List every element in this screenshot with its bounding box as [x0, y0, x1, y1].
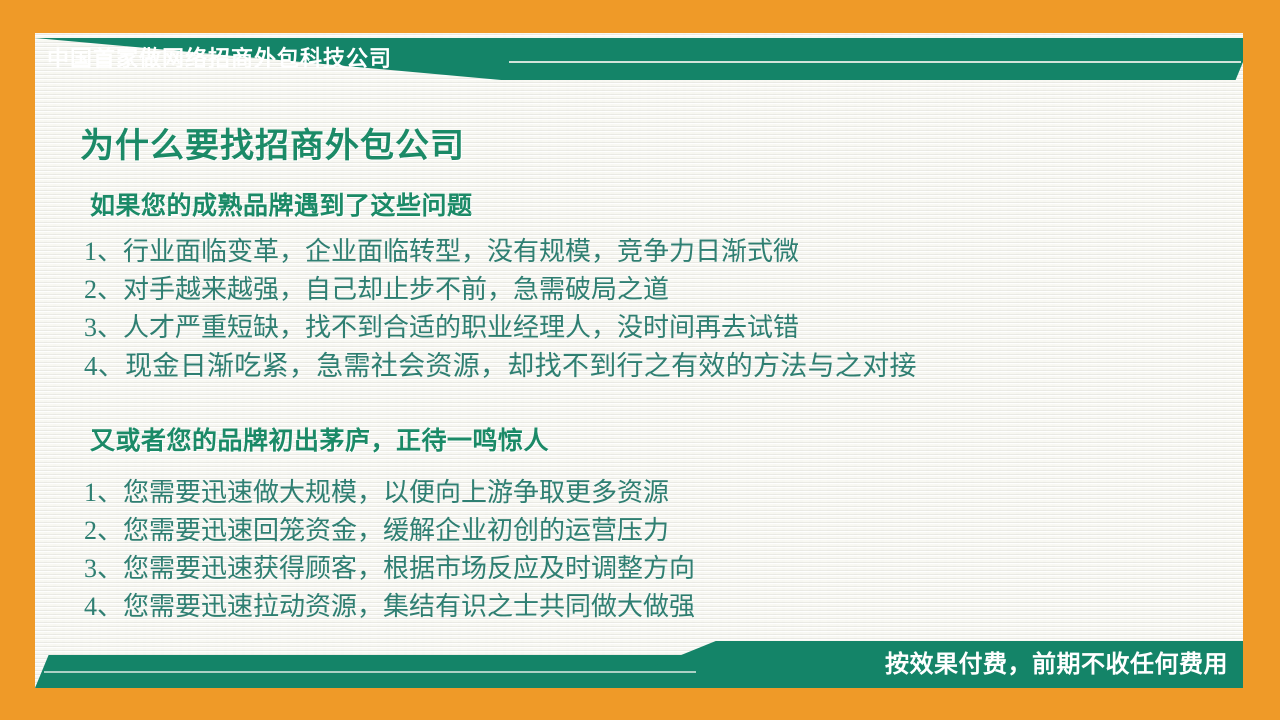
section-list-2: 1、您需要迅速做大规模，以便向上游争取更多资源 2、您需要迅速回笼资金，缓解企业… [84, 474, 695, 626]
list-item: 2、您需要迅速回笼资金，缓解企业初创的运营压力 [84, 512, 695, 550]
section-list-1: 1、行业面临变革，企业面临转型，没有规模，竞争力日渐式微 2、对手越来越强，自己… [84, 233, 917, 385]
list-item: 4、现金日渐吃紧，急需社会资源，却找不到行之有效的方法与之对接 [84, 347, 917, 385]
footer-hairline-divider [44, 671, 696, 673]
header-tagline: 中国首家做网络招商外包科技公司 [47, 40, 392, 78]
section-heading-2: 又或者您的品牌初出茅庐，正待一鸣惊人 [90, 421, 549, 457]
list-item: 1、您需要迅速做大规模，以便向上游争取更多资源 [84, 474, 695, 512]
footer-tagline: 按效果付费，前期不收任何费用 [885, 648, 1228, 682]
section-heading-1: 如果您的成熟品牌遇到了这些问题 [90, 186, 473, 222]
list-item: 3、人才严重短缺，找不到合适的职业经理人，没时间再去试错 [84, 309, 917, 347]
header-green-strip-upper [475, 38, 1243, 62]
page-title: 为什么要找招商外包公司 [80, 118, 465, 167]
list-item: 4、您需要迅速拉动资源，集结有识之士共同做大做强 [84, 588, 695, 626]
slide-canvas: 中国首家做网络招商外包科技公司 为什么要找招商外包公司 如果您的成熟品牌遇到了这… [0, 0, 1280, 720]
list-item: 2、对手越来越强，自己却止步不前，急需破局之道 [84, 271, 917, 309]
list-item: 1、行业面临变革，企业面临转型，没有规模，竞争力日渐式微 [84, 233, 917, 271]
header-green-strip-lower [501, 62, 1243, 80]
header-hairline-divider [509, 61, 1241, 63]
list-item: 3、您需要迅速获得顾客，根据市场反应及时调整方向 [84, 550, 695, 588]
